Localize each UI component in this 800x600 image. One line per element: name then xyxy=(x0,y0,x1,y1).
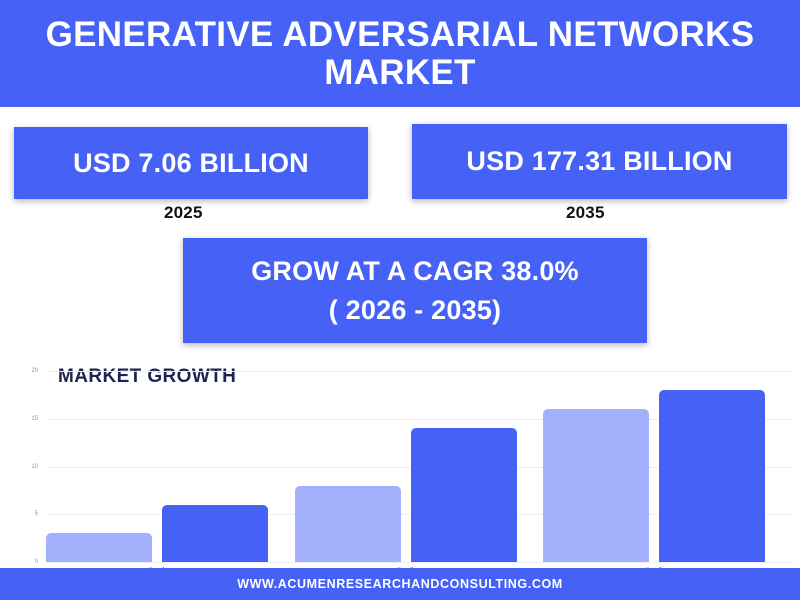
chart-bar xyxy=(295,486,401,562)
stat-year-2025: 2025 xyxy=(164,203,203,223)
stat-value-2025: USD 7.06 BILLION xyxy=(73,148,309,179)
market-growth-chart: MARKET GROWTH 05101520Item 1Item 2Item 3 xyxy=(0,360,800,570)
footer-website-url: WWW.ACUMENRESEARCHANDCONSULTING.COM xyxy=(237,577,563,591)
cagr-period-text: ( 2026 - 2035) xyxy=(329,295,501,326)
chart-bar xyxy=(46,533,152,562)
footer-banner: WWW.ACUMENRESEARCHANDCONSULTING.COM xyxy=(0,568,800,600)
cagr-box: GROW AT A CAGR 38.0% ( 2026 - 2035) xyxy=(183,238,647,343)
chart-gridline xyxy=(47,371,792,372)
chart-bar xyxy=(411,428,517,562)
stat-box-2025: USD 7.06 BILLION xyxy=(14,127,368,199)
chart-plot-area: 05101520Item 1Item 2Item 3 xyxy=(47,371,792,562)
stat-box-2035: USD 177.31 BILLION xyxy=(412,124,787,199)
cagr-rate-text: GROW AT A CAGR 38.0% xyxy=(251,256,579,287)
page-title: GENERATIVE ADVERSARIAL NETWORKS MARKET xyxy=(0,16,800,92)
header-banner: GENERATIVE ADVERSARIAL NETWORKS MARKET xyxy=(0,0,800,107)
stat-year-2035: 2035 xyxy=(566,203,605,223)
y-axis-tick-label: 20 xyxy=(16,368,38,374)
chart-bar xyxy=(162,505,268,562)
y-axis-tick-label: 15 xyxy=(16,416,38,422)
y-axis-tick-label: 5 xyxy=(16,511,38,517)
chart-bar xyxy=(543,409,649,562)
y-axis-tick-label: 0 xyxy=(16,559,38,565)
stat-value-2035: USD 177.31 BILLION xyxy=(466,146,732,177)
chart-bar xyxy=(659,390,765,562)
chart-gridline xyxy=(47,562,792,563)
y-axis-tick-label: 10 xyxy=(16,464,38,470)
